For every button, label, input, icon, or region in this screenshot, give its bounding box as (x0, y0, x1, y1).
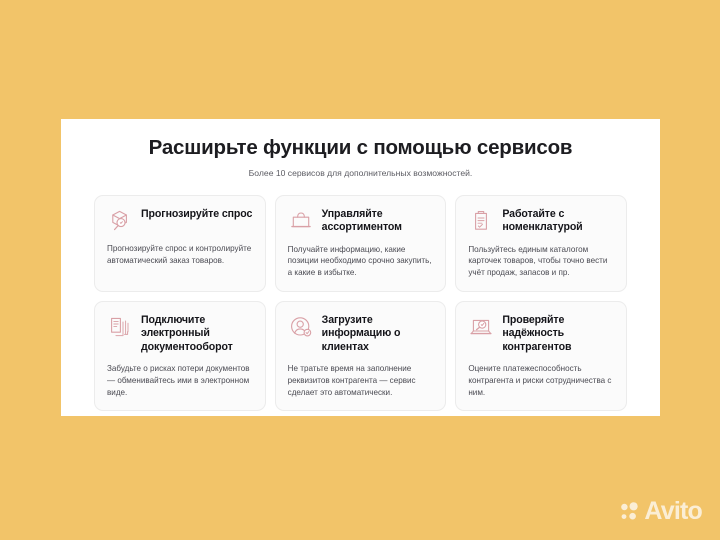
box-search-icon (107, 208, 133, 234)
service-card[interactable]: Управляйте ассортиментом Получайте инфор… (275, 195, 447, 292)
card-description: Забудьте о рисках потери документов — об… (107, 363, 253, 398)
card-description: Не тратьте время на заполнение реквизито… (288, 363, 434, 398)
card-title: Работайте с номенклатурой (502, 207, 614, 235)
card-title: Проверяйте надёжность контрагентов (502, 313, 614, 354)
service-card[interactable]: Загрузите информацию о клиентах Не трать… (275, 301, 447, 412)
card-description: Прогнозируйте спрос и контролируйте авто… (107, 243, 253, 266)
clipboard-check-icon (468, 208, 494, 234)
card-title: Прогнозируйте спрос (141, 207, 252, 221)
services-grid: Прогнозируйте спрос Прогнозируйте спрос … (94, 195, 627, 412)
page-subtitle: Более 10 сервисов для дополнительных воз… (94, 168, 627, 179)
documents-exchange-icon (107, 314, 133, 340)
avito-wordmark: Avito (644, 499, 702, 524)
card-header: Работайте с номенклатурой (468, 207, 614, 235)
card-header: Проверяйте надёжность контрагентов (468, 313, 614, 354)
services-panel: Расширьте функции с помощью сервисов Бол… (61, 119, 660, 416)
avito-watermark: Avito (620, 499, 702, 524)
service-card[interactable]: Прогнозируйте спрос Прогнозируйте спрос … (94, 195, 266, 292)
card-header: Подключите электронный документооборот (107, 313, 253, 354)
card-header: Прогнозируйте спрос (107, 207, 253, 234)
service-card[interactable]: Подключите электронный документооборот З… (94, 301, 266, 412)
service-card[interactable]: Проверяйте надёжность контрагентов Оцени… (455, 301, 627, 412)
panel-inner: Расширьте функции с помощью сервисов Бол… (61, 119, 660, 411)
card-description: Пользуйтесь единым каталогом карточек то… (468, 244, 614, 279)
card-header: Управляйте ассортиментом (288, 207, 434, 235)
card-description: Получайте информацию, какие позиции необ… (288, 244, 434, 279)
card-title: Загрузите информацию о клиентах (322, 313, 434, 354)
card-header: Загрузите информацию о клиентах (288, 313, 434, 354)
shopping-bag-icon (288, 208, 314, 234)
screenshot-stage: Расширьте функции с помощью сервисов Бол… (0, 0, 720, 540)
avito-dots-icon (620, 502, 639, 521)
card-title: Управляйте ассортиментом (322, 207, 434, 235)
page-title: Расширьте функции с помощью сервисов (94, 136, 627, 161)
laptop-search-icon (468, 314, 494, 340)
card-title: Подключите электронный документооборот (141, 313, 253, 354)
service-card[interactable]: Работайте с номенклатурой Пользуйтесь ед… (455, 195, 627, 292)
user-check-icon (288, 314, 314, 340)
card-description: Оцените платежеспособность контрагента и… (468, 363, 614, 398)
